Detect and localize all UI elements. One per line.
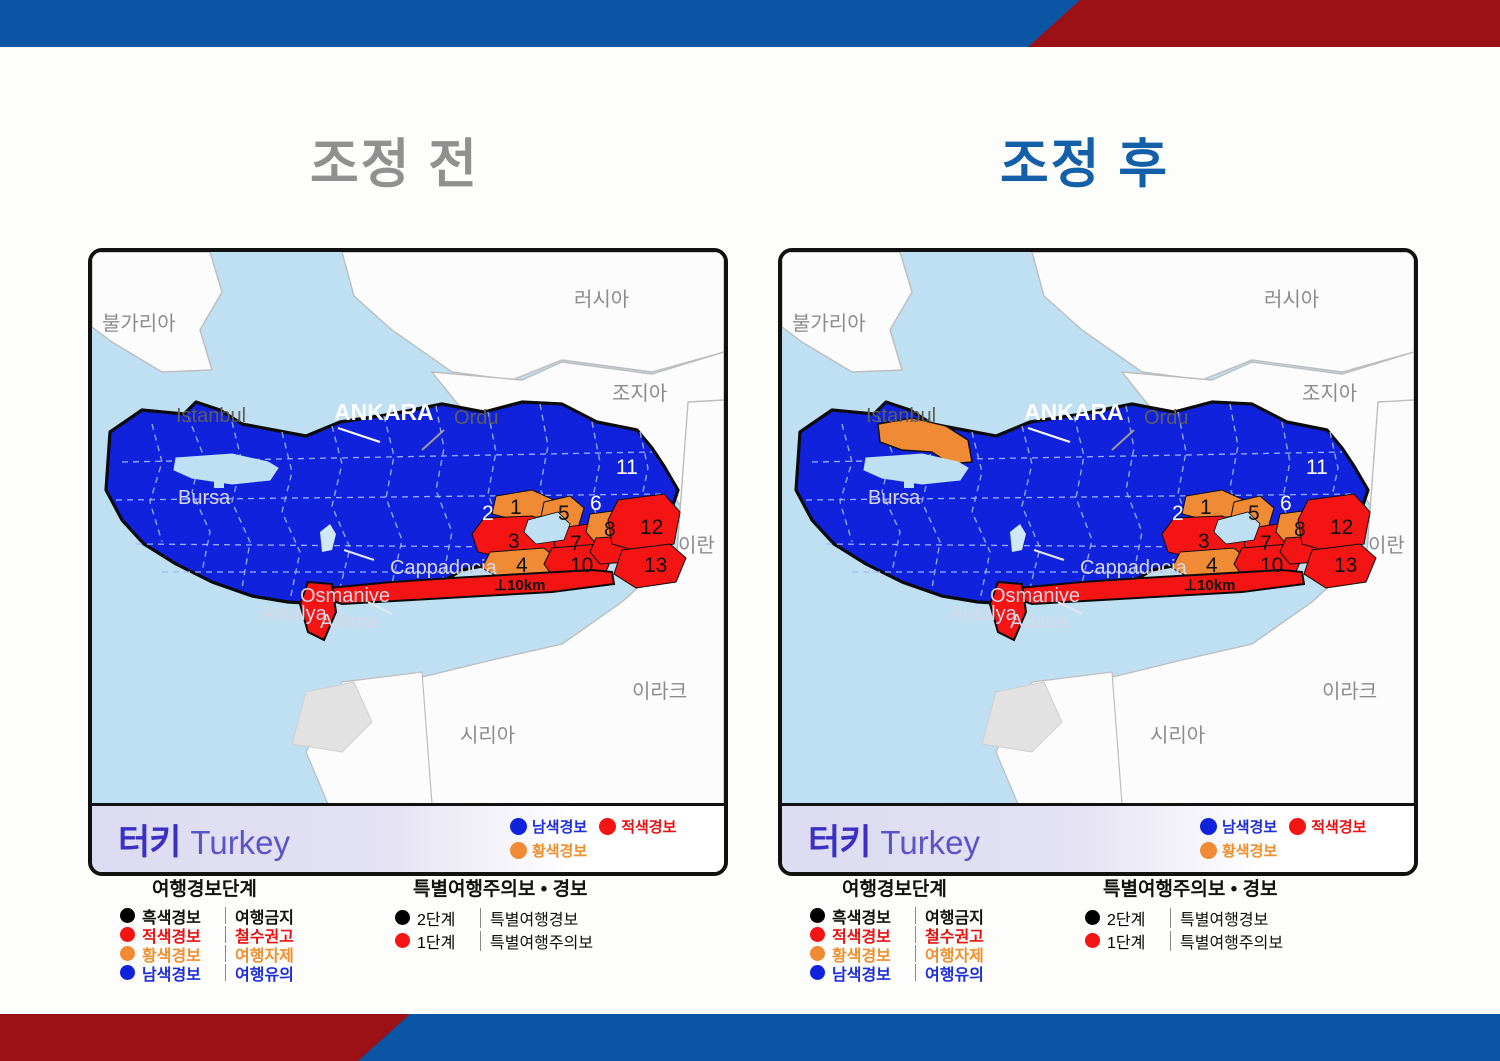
svg-text:10: 10: [1260, 554, 1283, 577]
legend-title: 여행경보단계: [810, 874, 984, 901]
black-dot-icon: [120, 908, 135, 923]
legend-row: 1단계특별여행주의보: [1085, 929, 1283, 952]
svg-text:Antalya: Antalya: [950, 603, 1018, 625]
blue-dot-icon: [1200, 818, 1217, 835]
svg-text:시리아: 시리아: [460, 724, 515, 747]
svg-text:Adana: Adana: [1010, 611, 1069, 633]
svg-text:11: 11: [616, 456, 638, 479]
divider: [915, 907, 916, 924]
svg-text:조지아: 조지아: [612, 382, 667, 405]
blue-dot-icon: [120, 965, 135, 980]
corner-band-bottom-blue: [358, 1014, 1500, 1061]
svg-text:7: 7: [1260, 532, 1272, 555]
svg-text:Cappadocia: Cappadocia: [390, 557, 498, 579]
svg-text:이라크: 이라크: [632, 680, 687, 703]
svg-text:12: 12: [640, 516, 663, 539]
svg-text:Adana: Adana: [320, 611, 379, 633]
svg-text:ANKARA: ANKARA: [334, 399, 434, 425]
red-dot-icon: [1289, 818, 1306, 835]
divider: [225, 964, 226, 981]
svg-text:이라크: 이라크: [1322, 680, 1377, 703]
red-dot-icon: [1085, 933, 1100, 948]
legend-item-red: 적색경보: [599, 816, 676, 837]
svg-text:2: 2: [1172, 502, 1184, 525]
orange-dot-icon: [510, 842, 527, 859]
svg-text:이란: 이란: [1368, 534, 1405, 557]
country-banner-after: 터키Turkey 남색경보 적색경보 황색경보: [782, 803, 1414, 872]
svg-text:Antalya: Antalya: [260, 603, 328, 625]
corner-band-top-blue: [0, 0, 1090, 47]
svg-text:러시아: 러시아: [1264, 288, 1319, 311]
legend-alert-levels-after: 여행경보단계 흑색경보여행금지 적색경보철수권고 황색경보여행자제 남색경보여행…: [810, 874, 984, 982]
red-dot-icon: [599, 818, 616, 835]
divider: [915, 945, 916, 962]
svg-text:Ordu: Ordu: [1144, 407, 1188, 429]
svg-text:3: 3: [1198, 530, 1210, 553]
orange-dot-icon: [1200, 842, 1217, 859]
svg-text:8: 8: [604, 518, 616, 541]
legend-alert-levels-before: 여행경보단계 흑색경보여행금지 적색경보철수권고 황색경보여행자제 남색경보여행…: [120, 874, 294, 982]
svg-text:8: 8: [1294, 518, 1306, 541]
svg-text:13: 13: [644, 554, 667, 577]
svg-text:Ordu: Ordu: [454, 407, 498, 429]
legend-special-advisory-before: 특별여행주의보 • 경보 2단계특별여행경보 1단계특별여행주의보: [395, 874, 593, 952]
svg-text:불가리아: 불가리아: [792, 312, 866, 335]
legend-item-orange: 황색경보: [510, 840, 587, 861]
svg-text:1: 1: [1200, 496, 1212, 519]
legend-row: 2단계특별여행경보: [1085, 906, 1283, 929]
svg-text:이란: 이란: [678, 534, 715, 557]
svg-text:5: 5: [1248, 502, 1260, 525]
svg-text:Bursa: Bursa: [868, 487, 921, 509]
country-name: 터키Turkey: [118, 814, 290, 865]
legend-item-red: 적색경보: [1289, 816, 1366, 837]
svg-text:6: 6: [590, 492, 602, 515]
svg-text:Istanbul: Istanbul: [866, 405, 936, 427]
divider: [1170, 931, 1171, 951]
map-panel-before: 불가리아 러시아 조지아 이란 이라크 시리아 Istanbul Ordu Bu…: [88, 248, 728, 876]
svg-text:5: 5: [558, 502, 570, 525]
svg-text:11: 11: [1306, 456, 1328, 479]
svg-text:러시아: 러시아: [574, 288, 629, 311]
legend-special-advisory-after: 특별여행주의보 • 경보 2단계특별여행경보 1단계특별여행주의보: [1085, 874, 1283, 952]
red-dot-icon: [810, 927, 825, 942]
svg-text:ANKARA: ANKARA: [1024, 399, 1124, 425]
corner-band-top-red: [1028, 0, 1500, 47]
title-after: 조정 후: [1000, 122, 1169, 198]
map-color-legend-before: 남색경보 적색경보 황색경보: [510, 814, 710, 862]
black-dot-icon: [395, 910, 410, 925]
orange-dot-icon: [120, 946, 135, 961]
divider: [1170, 908, 1171, 928]
svg-text:10: 10: [570, 554, 593, 577]
legend-row: 남색경보여행유의: [120, 963, 294, 982]
svg-text:3: 3: [508, 530, 520, 553]
svg-text:Cappadocia: Cappadocia: [1080, 557, 1188, 579]
svg-text:1: 1: [510, 496, 522, 519]
map-graphic-before: 불가리아 러시아 조지아 이란 이라크 시리아 Istanbul Ordu Bu…: [92, 252, 724, 804]
country-banner-before: 터키Turkey 남색경보 적색경보 황색경보: [92, 803, 724, 872]
svg-text:13: 13: [1334, 554, 1357, 577]
divider: [480, 931, 481, 951]
black-dot-icon: [810, 908, 825, 923]
legend-item-blue: 남색경보: [510, 816, 587, 837]
divider: [225, 907, 226, 924]
legend-title: 특별여행주의보 • 경보: [395, 874, 593, 901]
svg-text:7: 7: [570, 532, 582, 555]
svg-text:4: 4: [1206, 554, 1218, 577]
divider: [915, 926, 916, 943]
svg-text:⊥10km: ⊥10km: [494, 577, 545, 594]
black-dot-icon: [1085, 910, 1100, 925]
svg-text:Bursa: Bursa: [178, 487, 231, 509]
red-dot-icon: [120, 927, 135, 942]
title-before: 조정 전: [310, 122, 479, 198]
legend-title: 특별여행주의보 • 경보: [1085, 874, 1283, 901]
legend-title: 여행경보단계: [120, 874, 294, 901]
svg-text:4: 4: [516, 554, 528, 577]
divider: [915, 964, 916, 981]
map-color-legend-after: 남색경보 적색경보 황색경보: [1200, 814, 1400, 862]
svg-text:6: 6: [1280, 492, 1292, 515]
blue-dot-icon: [510, 818, 527, 835]
legend-row: 남색경보여행유의: [810, 963, 984, 982]
legend-item-orange: 황색경보: [1200, 840, 1277, 861]
corner-band-bottom-red: [0, 1014, 420, 1061]
divider: [480, 908, 481, 928]
map-graphic-after: 불가리아 러시아 조지아 이란 이라크 시리아 Istanbul Ordu Bu…: [782, 252, 1414, 804]
orange-dot-icon: [810, 946, 825, 961]
blue-dot-icon: [810, 965, 825, 980]
legend-row: 1단계특별여행주의보: [395, 929, 593, 952]
svg-text:불가리아: 불가리아: [102, 312, 176, 335]
svg-text:시리아: 시리아: [1150, 724, 1205, 747]
svg-text:12: 12: [1330, 516, 1353, 539]
svg-text:2: 2: [482, 502, 494, 525]
map-panel-after: 불가리아 러시아 조지아 이란 이라크 시리아 Istanbul Ordu Bu…: [778, 248, 1418, 876]
svg-text:Istanbul: Istanbul: [176, 405, 246, 427]
divider: [225, 945, 226, 962]
country-name: 터키Turkey: [808, 814, 980, 865]
svg-text:조지아: 조지아: [1302, 382, 1357, 405]
legend-row: 2단계특별여행경보: [395, 906, 593, 929]
divider: [225, 926, 226, 943]
red-dot-icon: [395, 933, 410, 948]
legend-item-blue: 남색경보: [1200, 816, 1277, 837]
svg-text:⊥10km: ⊥10km: [1184, 577, 1235, 594]
